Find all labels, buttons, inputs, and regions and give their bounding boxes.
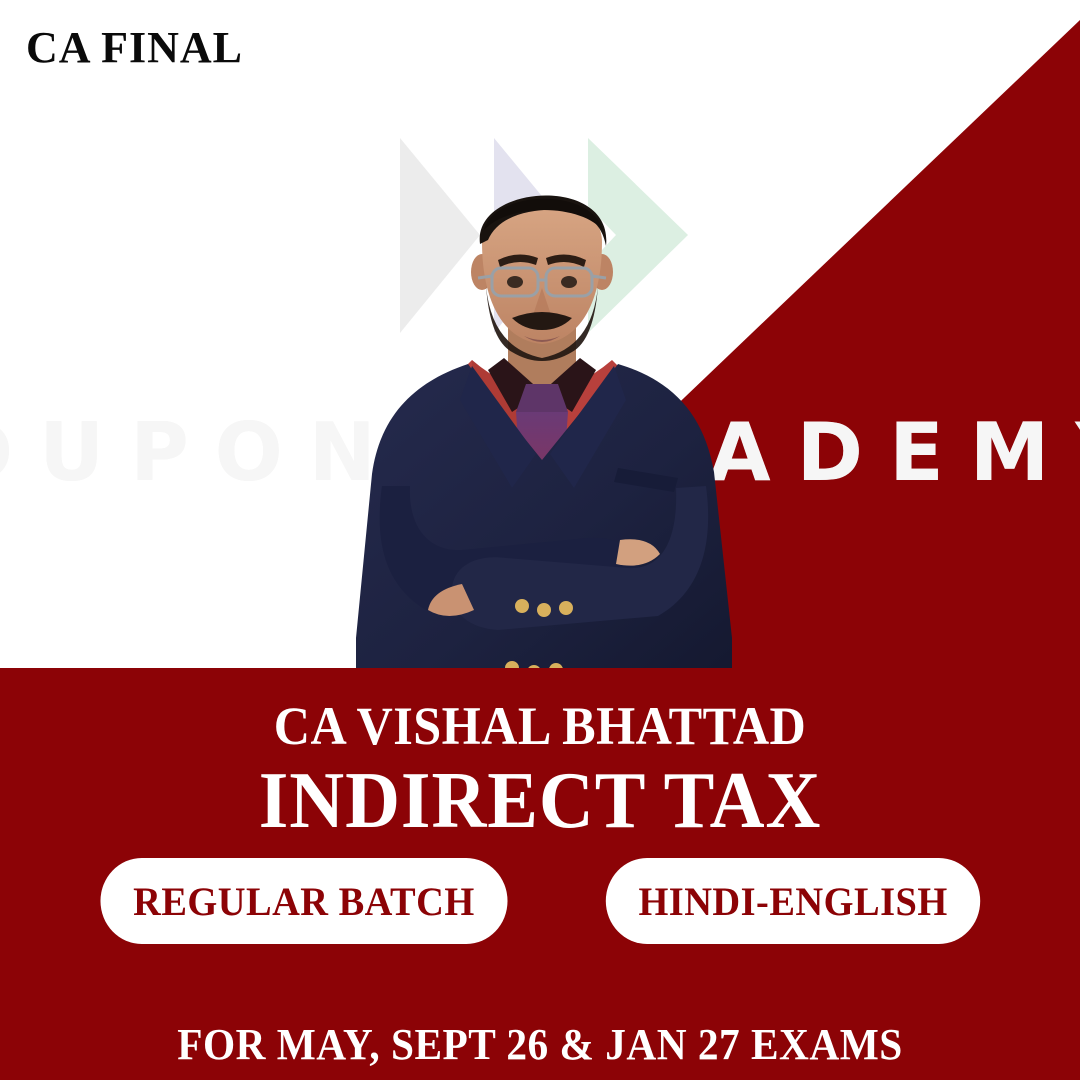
jacket-button-icon bbox=[559, 601, 573, 615]
batch-type-pill[interactable]: REGULAR BATCH bbox=[101, 858, 508, 944]
promo-poster: DUPONT ACADEMY DUPONT ACADEMY CA FINAL bbox=[0, 0, 1080, 1080]
eye-right-shape bbox=[561, 276, 577, 288]
instructor-name: CA VISHAL BHATTAD bbox=[38, 695, 1042, 757]
badge-row: REGULAR BATCH HINDI-ENGLISH bbox=[0, 858, 1080, 944]
jacket-button-icon bbox=[515, 599, 529, 613]
jacket-button-icon bbox=[537, 603, 551, 617]
course-subject: INDIRECT TAX bbox=[27, 756, 1053, 847]
eye-left-shape bbox=[507, 276, 523, 288]
page-title: CA FINAL bbox=[26, 22, 243, 73]
language-pill[interactable]: HINDI-ENGLISH bbox=[606, 858, 981, 944]
exam-attempt-text: FOR MAY, SEPT 26 & JAN 27 EXAMS bbox=[32, 1019, 1047, 1070]
instructor-photo bbox=[322, 168, 762, 688]
